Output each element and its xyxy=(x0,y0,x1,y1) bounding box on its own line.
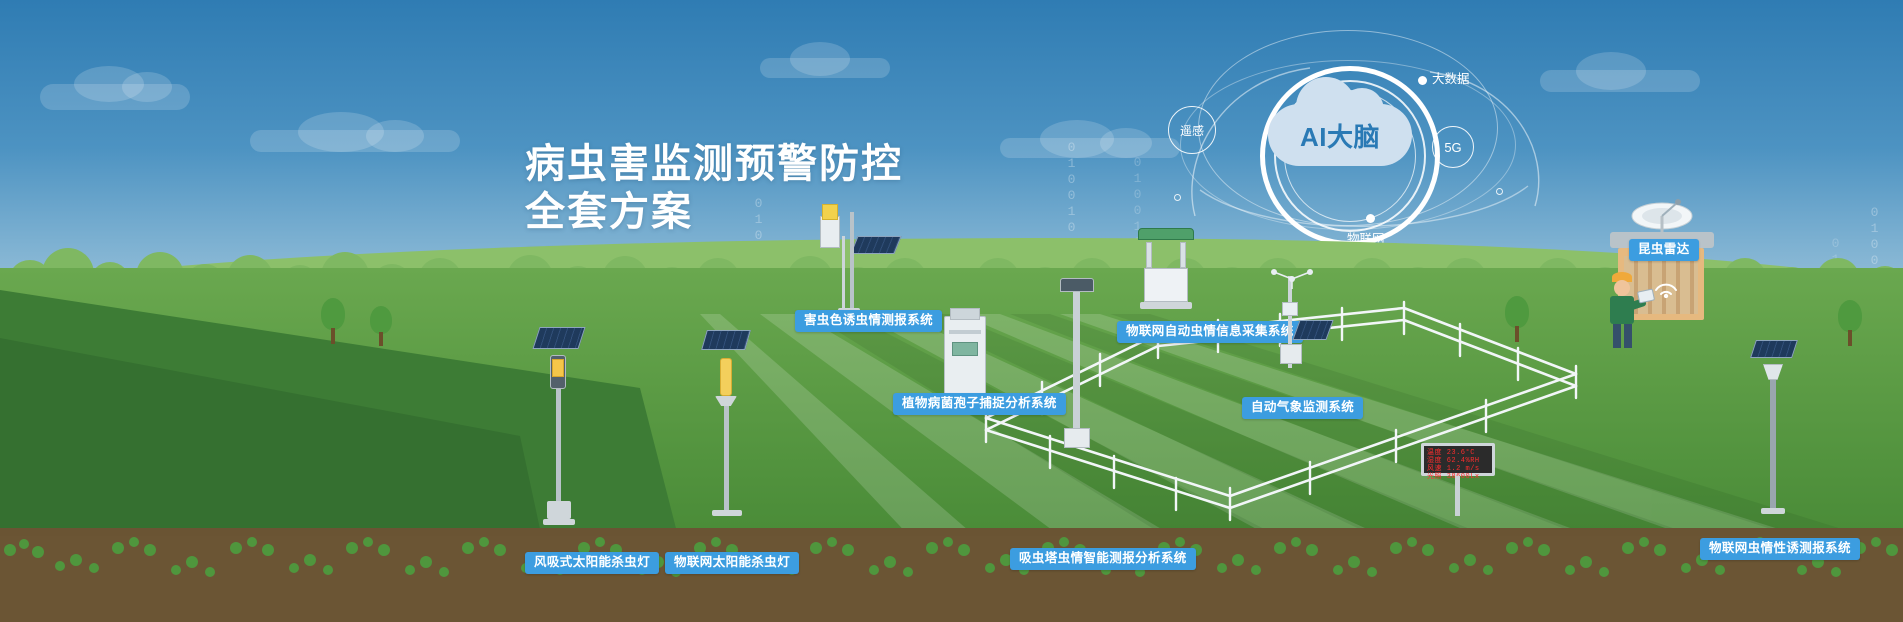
tree-trunk xyxy=(331,328,335,344)
tree-trunk xyxy=(1848,330,1852,346)
label-plant-pathogen-spore-capture-analysis-system[interactable]: 植物病菌孢子捕捉分析系统 xyxy=(893,393,1066,415)
lamp-pole xyxy=(724,406,729,510)
lamp-tube xyxy=(720,358,732,396)
worker-leg-right xyxy=(1624,324,1632,348)
lamp-collector-box xyxy=(547,501,571,519)
label-automatic-weather-monitoring-system[interactable]: 自动气象监测系统 xyxy=(1242,397,1363,419)
device-iot-automatic-pest-info-collection-system[interactable] xyxy=(1136,228,1206,318)
lamp-funnel xyxy=(715,396,737,406)
collector-body xyxy=(1144,268,1188,302)
foreground-tree-2 xyxy=(368,306,394,348)
led-row-2: 湿度 62.4%RH xyxy=(1427,457,1489,465)
lamp-glass xyxy=(552,359,564,377)
label-iot-pest-pheromone-forecast-system[interactable]: 物联网虫情性诱测报系统 xyxy=(1700,538,1860,560)
label-insect-radar[interactable]: 昆虫雷达 xyxy=(1629,239,1699,261)
field-worker xyxy=(1594,272,1654,350)
cabinet-display xyxy=(952,342,978,356)
lamp-base-plate xyxy=(543,519,575,525)
ai-brain-label: AI大脑 xyxy=(1268,104,1412,166)
weather-sensor-shield xyxy=(1282,302,1298,316)
label-iot-solar-insect-lamp[interactable]: 物联网太阳能杀虫灯 xyxy=(665,552,799,574)
device-iot-pest-pheromone-forecast-system[interactable] xyxy=(1745,340,1805,530)
cabinet-intake xyxy=(950,308,980,320)
device-automatic-weather-monitoring-system[interactable] xyxy=(1262,268,1332,388)
tree-trunk xyxy=(1515,326,1519,342)
device-wind-suction-solar-insect-lamp[interactable] xyxy=(530,325,590,535)
foreground-tree-4 xyxy=(1835,300,1865,348)
suction-tower-cabinet xyxy=(1064,428,1090,448)
pheromone-trap-funnel xyxy=(1763,364,1783,380)
tree-crown xyxy=(1838,300,1862,332)
cabinet-vent xyxy=(949,330,981,334)
suction-tower-mast xyxy=(1073,292,1080,428)
label-pest-color-attract-forecast-system[interactable]: 害虫色诱虫情测报系统 xyxy=(795,310,942,332)
lamp-pole xyxy=(556,389,561,501)
device-pest-color-attract-forecast-system[interactable] xyxy=(820,196,900,326)
solar-panel xyxy=(850,236,901,254)
collector-funnel-left xyxy=(1146,242,1152,268)
solar-panel xyxy=(701,330,751,350)
tree-trunk xyxy=(379,332,383,346)
foreground-tree-3 xyxy=(1502,296,1532,344)
suction-tower-head xyxy=(1060,278,1094,292)
collector-funnel-right xyxy=(1180,242,1186,268)
label-suction-tower-intelligent-forecast-analysis-system[interactable]: 吸虫塔虫情智能测报分析系统 xyxy=(1010,548,1196,570)
collector-canopy xyxy=(1138,228,1194,240)
device-suction-tower-intelligent-forecast-analysis-system[interactable] xyxy=(1058,278,1104,458)
spore-cabinet xyxy=(944,316,986,398)
weather-solar-panel xyxy=(1292,320,1333,340)
anemometer-icon xyxy=(1268,268,1316,290)
device-iot-solar-insect-lamp[interactable] xyxy=(700,328,758,528)
tree-crown xyxy=(370,306,392,334)
solar-panel xyxy=(1750,340,1798,358)
tree-crown xyxy=(1505,296,1529,328)
led-display-board[interactable]: 温度 23.6°C 湿度 62.4%RH 风速 1.2 m/s 光照 38600… xyxy=(1421,443,1495,476)
tower-pole xyxy=(850,212,854,310)
collector-cabinet xyxy=(820,216,840,248)
led-board-pole xyxy=(1455,476,1460,516)
lamp-base-plate xyxy=(712,510,742,516)
worker-head xyxy=(1614,280,1630,296)
ladder-rail xyxy=(842,236,845,310)
headline-line-1: 病虫害监测预警防控 xyxy=(525,140,903,188)
weather-datalogger xyxy=(1280,344,1302,364)
collector-base xyxy=(1140,302,1192,309)
trap-pole xyxy=(1770,380,1776,508)
worker-leg-left xyxy=(1613,324,1621,348)
sticky-card-yellow xyxy=(822,204,838,220)
tree-crown xyxy=(321,298,345,330)
label-wind-suction-solar-insect-lamp[interactable]: 风吸式太阳能杀虫灯 xyxy=(525,552,659,574)
trap-base-plate xyxy=(1761,508,1785,514)
led-row-1: 温度 23.6°C xyxy=(1427,449,1489,457)
led-row-3: 风速 1.2 m/s xyxy=(1427,465,1489,473)
solar-panel xyxy=(532,327,585,349)
illustration-banner: 01001010011010 010010011 0100101101101 0… xyxy=(0,0,1903,622)
wifi-signal-icon xyxy=(1650,268,1684,298)
worker-torso xyxy=(1610,296,1634,324)
foreground-tree-1 xyxy=(318,298,348,346)
